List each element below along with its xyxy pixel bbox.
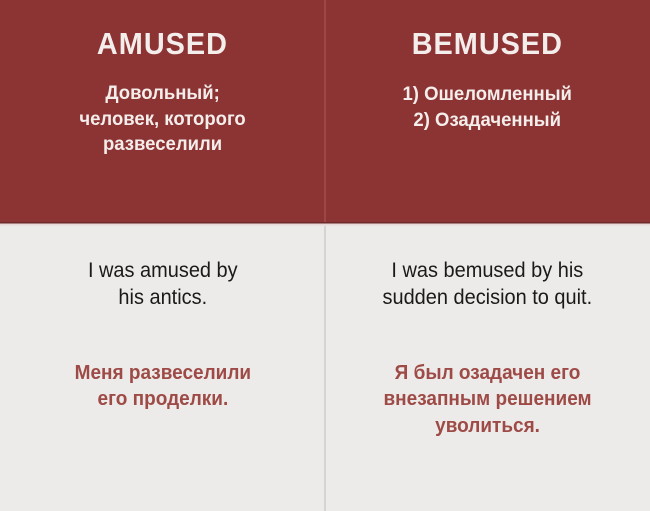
example-russian-amused: Меня развеселили его проделки.: [74, 360, 250, 413]
column-divider-bottom: [324, 226, 326, 511]
example-english-amused: I was amused by his antics.: [88, 258, 238, 312]
word-title-amused: AMUSED: [97, 28, 228, 59]
definitions-header-row: AMUSED Довольный; человек, которого разв…: [0, 0, 650, 222]
example-russian-line: его проделки.: [74, 386, 250, 412]
example-english-bemused: I was bemused by his sudden decision to …: [383, 258, 593, 312]
example-english-line: sudden decision to quit.: [383, 285, 593, 312]
definition-line: человек, которого: [79, 107, 245, 133]
word-title-bemused: BEMUSED: [412, 28, 563, 59]
example-english-line: I was amused by: [88, 258, 238, 285]
definition-column-amused: AMUSED Довольный; человек, которого разв…: [0, 0, 325, 222]
definition-text-amused: Довольный; человек, которого развеселили: [79, 81, 245, 158]
example-column-amused: I was amused by his antics. Меня развесе…: [0, 226, 325, 511]
definition-column-bemused: BEMUSED 1) Ошеломленный 2) Озадаченный: [325, 0, 650, 222]
example-russian-line: Я был озадачен его: [383, 360, 591, 386]
example-russian-line: внезапным решением: [383, 386, 591, 412]
example-russian-line: Меня развеселили: [74, 360, 250, 386]
examples-row: I was amused by his antics. Меня развесе…: [0, 226, 650, 511]
example-column-bemused: I was bemused by his sudden decision to …: [325, 226, 650, 511]
definition-line: развеселили: [79, 132, 245, 158]
example-english-line: I was bemused by his: [383, 258, 593, 285]
definition-text-bemused: 1) Ошеломленный 2) Озадаченный: [403, 81, 572, 133]
definition-numbered-item: 2) Озадаченный: [403, 107, 572, 133]
column-divider-top: [324, 0, 326, 222]
example-russian-bemused: Я был озадачен его внезапным решением ув…: [383, 360, 591, 439]
definition-numbered-item: 1) Ошеломленный: [403, 81, 572, 107]
example-russian-line: уволиться.: [383, 413, 591, 439]
example-english-line: his antics.: [88, 285, 238, 312]
word-comparison-infographic: AMUSED Довольный; человек, которого разв…: [0, 0, 650, 511]
definition-line: Довольный;: [79, 81, 245, 107]
